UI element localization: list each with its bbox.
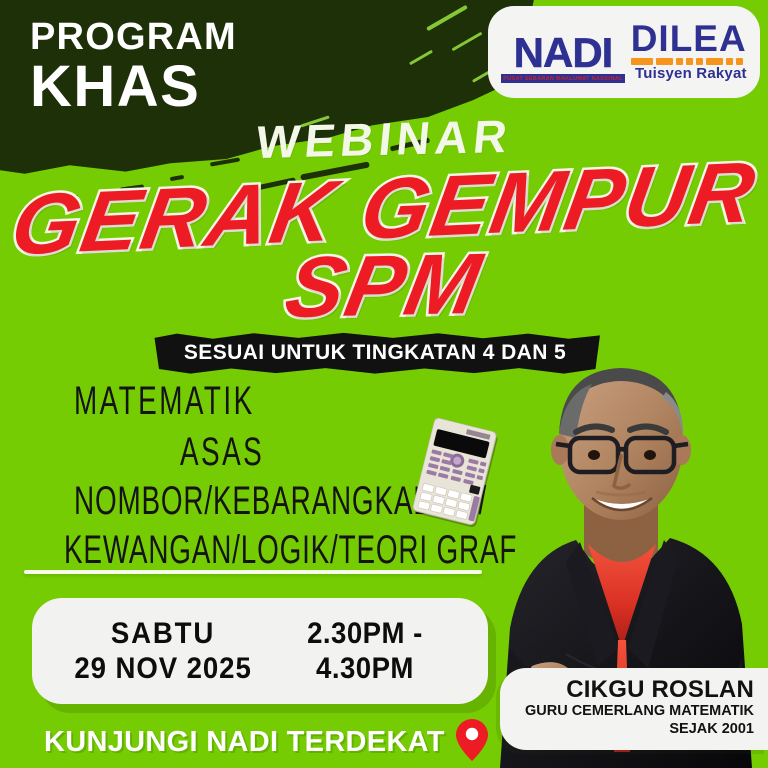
instructor-role: GURU CEMERLANG MATEMATIK (518, 702, 754, 720)
subject-line-4: KEWANGAN/LOGIK/TEORI GRAF (64, 527, 438, 573)
program-name: KHAS (30, 56, 237, 117)
schedule-time-start: 2.30PM - (276, 616, 454, 651)
section-divider (24, 570, 482, 574)
dash-icon (656, 58, 673, 65)
nadi-tagline: PUSAT SEBARAN MAKLUMAT NASIONAL (501, 74, 624, 83)
subject-line-1: MATEMATIK (74, 378, 440, 424)
webinar-poster: PROGRAM KHAS NADI PUSAT SEBARAN MAKLUMAT… (0, 0, 768, 768)
audience-band: SESUAI UNTUK TINGKATAN 4 DAN 5 (150, 332, 600, 374)
subject-line-2: ASAS (180, 429, 459, 475)
program-heading: PROGRAM KHAS (30, 18, 237, 117)
schedule-time-end: 4.30PM (276, 651, 454, 686)
instructor-since: SEJAK 2001 (518, 720, 754, 738)
title-line-2: SPM (0, 237, 768, 336)
dot-icon (696, 58, 703, 65)
program-label: PROGRAM (30, 18, 237, 56)
nadi-wordmark: NADI (514, 34, 613, 73)
cta-row[interactable]: KUNJUNGI NADI TERDEKAT (44, 718, 489, 767)
dot-icon (686, 58, 693, 65)
subject-line-3: NOMBOR/KEBARANGKALIAN/ (74, 478, 440, 524)
schedule-card: SABTU 29 NOV 2025 2.30PM - 4.30PM (32, 598, 488, 704)
schedule-date: 29 NOV 2025 (66, 651, 259, 686)
dilea-dash-row (631, 58, 747, 65)
nadi-logo-group: NADI PUSAT SEBARAN MAKLUMAT NASIONAL (501, 34, 624, 83)
main-title: GERAK GEMPUR SPM (0, 168, 768, 327)
dilea-tagline: Tuisyen Rakyat (631, 66, 747, 81)
schedule-date-column: SABTU 29 NOV 2025 (66, 616, 259, 687)
map-pin-icon (455, 718, 489, 767)
instructor-name: CIKGU ROSLAN (518, 677, 754, 702)
dilea-wordmark: DILEA (631, 21, 747, 56)
cta-label: KUNJUNGI NADI TERDEKAT (44, 726, 445, 759)
dilea-logo-group: DILEA Tuisyen Rakyat (631, 21, 747, 83)
schedule-time-column: 2.30PM - 4.30PM (276, 616, 454, 687)
nadi-dilea-logo: NADI PUSAT SEBARAN MAKLUMAT NASIONAL DIL… (488, 6, 760, 98)
schedule-day: SABTU (66, 616, 259, 651)
instructor-name-card: CIKGU ROSLAN GURU CEMERLANG MATEMATIK SE… (500, 668, 768, 750)
dot-icon (726, 58, 733, 65)
dash-icon (631, 58, 653, 65)
dash-icon (706, 58, 723, 65)
dot-icon (736, 58, 743, 65)
audience-band-text: SESUAI UNTUK TINGKATAN 4 DAN 5 (184, 341, 566, 365)
dot-icon (676, 58, 683, 65)
